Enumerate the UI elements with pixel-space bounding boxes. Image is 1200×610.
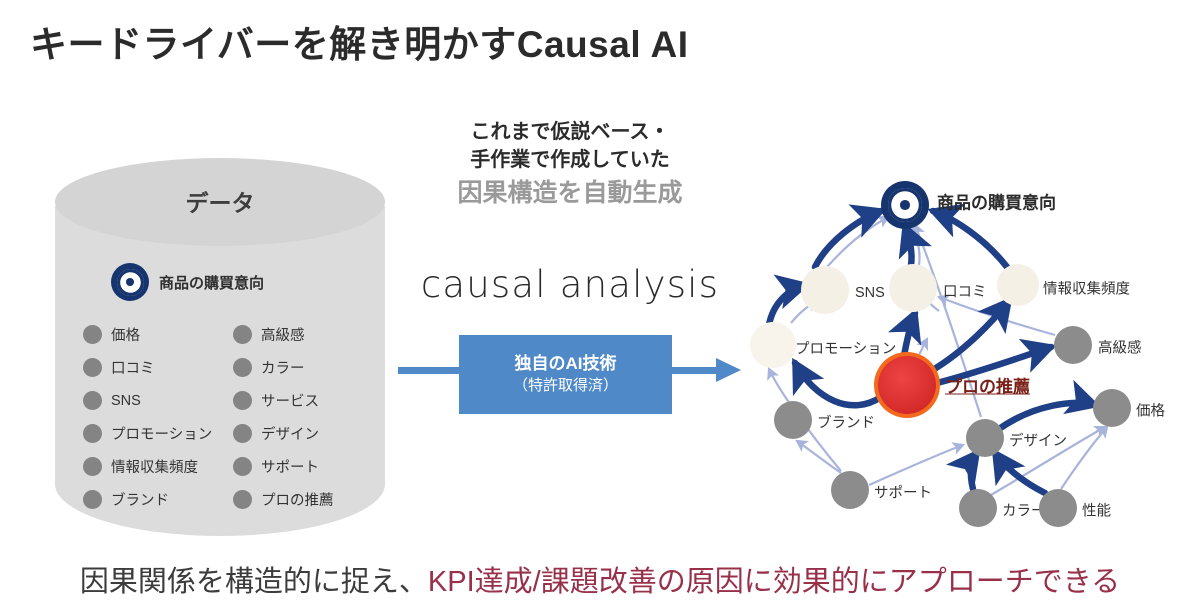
list-item: プロの推薦 [233,483,383,516]
list-item-label: プロの推薦 [261,489,334,510]
bullet-dot-icon [233,325,252,344]
bullseye-target-icon [111,263,149,301]
bottom-caption-part2: KPI達成/課題改善の原因に効果的にアプローチできる [428,566,1120,598]
graph-node-kokyukan[interactable] [1054,326,1092,364]
flow-line-left [398,367,463,374]
cylinder-target-label: 商品の購買意向 [159,272,264,293]
graph-node-sns-label: SNS [855,285,885,301]
graph-node-kuchikomi[interactable] [889,264,937,312]
graph-node-design-label: デザイン [1009,430,1067,451]
list-item: SNS [83,384,233,417]
ai-technology-box: 独自のAI技術 （特許取得済） [459,335,672,414]
graph-node-johoshushu[interactable] [997,264,1039,306]
cylinder-title: データ [55,184,385,218]
graph-node-color[interactable] [959,489,997,527]
center-line-3: 因果構造を自動生成 [400,174,740,212]
graph-node-johoshushu-label: 情報収集頻度 [1043,278,1130,299]
ai-technology-box-title: 独自のAI技術 [515,353,617,375]
list-item-label: 情報収集頻度 [111,456,198,477]
bullet-dot-icon [233,391,252,410]
graph-node-pro-recommendation-label: プロの推薦 [945,373,1030,398]
graph-node-pro-recommendation[interactable] [878,356,936,414]
bullet-dot-icon [233,457,252,476]
list-item: プロモーション [83,417,233,450]
bottom-caption-part1: 因果関係を構造的に捉え、 [80,566,428,598]
cylinder-target-row: 商品の購買意向 [111,263,264,301]
list-item-label: 高級感 [261,324,305,345]
right-arrow-icon [716,358,741,382]
list-item-label: ブランド [111,489,169,510]
bottom-caption: 因果関係を構造的に捉え、KPI達成/課題改善の原因に効果的にアプローチできる [0,558,1200,600]
bullet-dot-icon [233,490,252,509]
list-item: サポート [233,450,383,483]
center-headline-block: これまで仮説ベース・ 手作業で作成していた 因果構造を自動生成 [400,118,740,212]
data-cylinder: データ 商品の購買意向 価格 口コミ SNS プロモーション [55,158,385,543]
bullet-dot-icon [83,424,102,443]
list-item-label: サービス [261,390,319,411]
graph-node-brand[interactable] [774,401,812,439]
ai-technology-box-subtitle: （特許取得済） [513,375,618,396]
list-item-label: サポート [261,456,319,477]
flow-line-right [672,367,722,374]
bullet-dot-icon [83,325,102,344]
causal-analysis-brandmark: causal analysis [400,263,740,306]
bullet-dot-icon [83,391,102,410]
list-item-label: デザイン [261,423,319,444]
graph-target-label: 商品の購買意向 [937,189,1056,214]
graph-target-node[interactable] [881,181,929,229]
list-item: 口コミ [83,351,233,384]
list-item: 情報収集頻度 [83,450,233,483]
causal-graph: SNS 口コミ 情報収集頻度 プロモーション 高級感 ブランド デザイン 価格 … [755,155,1200,545]
center-line-1: これまで仮説ベース・ [400,118,740,146]
list-item: カラー [233,351,383,384]
graph-node-kakaku-label: 価格 [1136,400,1165,421]
list-item: ブランド [83,483,233,516]
graph-node-support[interactable] [831,471,869,509]
list-item: 価格 [83,318,233,351]
list-item: デザイン [233,417,383,450]
graph-node-kakaku[interactable] [1093,389,1131,427]
list-item-label: 口コミ [111,357,155,378]
graph-node-promotion[interactable] [750,322,796,368]
list-item-label: プロモーション [111,423,212,444]
graph-node-seino-label: 性能 [1082,500,1111,521]
list-item-label: SNS [111,393,141,409]
bullet-dot-icon [83,457,102,476]
cylinder-column-right: 高級感 カラー サービス デザイン サポート プロの推薦 [233,318,383,516]
list-item-label: カラー [261,357,305,378]
bullet-dot-icon [233,424,252,443]
cylinder-column-left: 価格 口コミ SNS プロモーション 情報収集頻度 ブランド [83,318,233,516]
graph-node-support-label: サポート [874,482,932,503]
center-line-2: 手作業で作成していた [400,146,740,174]
graph-node-kuchikomi-label: 口コミ [943,281,987,302]
list-item: サービス [233,384,383,417]
graph-node-seino[interactable] [1039,489,1077,527]
bullseye-target-icon [881,181,929,229]
graph-node-kokyukan-label: 高級感 [1098,337,1142,358]
graph-node-sns[interactable] [801,266,849,314]
cylinder-variable-lists: 価格 口コミ SNS プロモーション 情報収集頻度 ブランド [83,318,383,516]
list-item: 高級感 [233,318,383,351]
page-title: キードライバーを解き明かすCausal AI [30,14,689,68]
bullet-dot-icon [233,358,252,377]
graph-node-brand-label: ブランド [817,412,875,433]
graph-node-design[interactable] [966,419,1004,457]
bullet-dot-icon [83,490,102,509]
flow-arrow-group: 独自のAI技術 （特許取得済） [398,335,743,415]
list-item-label: 価格 [111,324,140,345]
bullet-dot-icon [83,358,102,377]
graph-node-promotion-label: プロモーション [795,338,896,359]
